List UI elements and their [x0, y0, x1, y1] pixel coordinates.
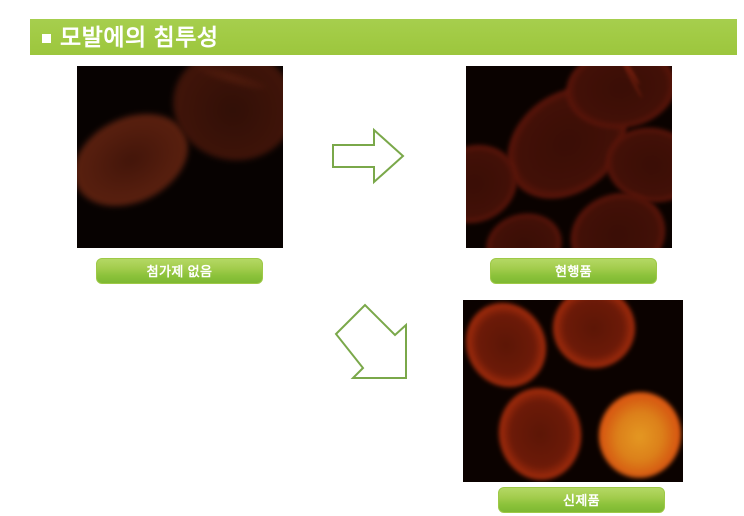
- slide-title-bar: 모발에의 침투성: [30, 19, 737, 55]
- caption-current-product: 현행품: [490, 258, 657, 284]
- micrograph-current-product: [466, 66, 672, 248]
- arrow-down-right-icon: [330, 302, 412, 384]
- arrow-right-icon: [330, 125, 406, 187]
- caption-new-product: 신제품: [498, 487, 665, 513]
- caption-label: 신제품: [563, 494, 600, 507]
- page-title: 모발에의 침투성: [60, 26, 219, 49]
- micrograph-new-product: [463, 300, 683, 482]
- square-bullet-icon: [42, 34, 51, 43]
- caption-label: 현행품: [555, 265, 592, 278]
- caption-label: 첨가제 없음: [147, 265, 213, 278]
- caption-no-additive: 첨가제 없음: [96, 258, 263, 284]
- hair-cross-section: [463, 300, 561, 402]
- hair-cross-section: [591, 384, 683, 482]
- micrograph-no-additive: [77, 66, 283, 248]
- hair-cross-section: [549, 300, 639, 372]
- hair-cross-section: [493, 383, 587, 482]
